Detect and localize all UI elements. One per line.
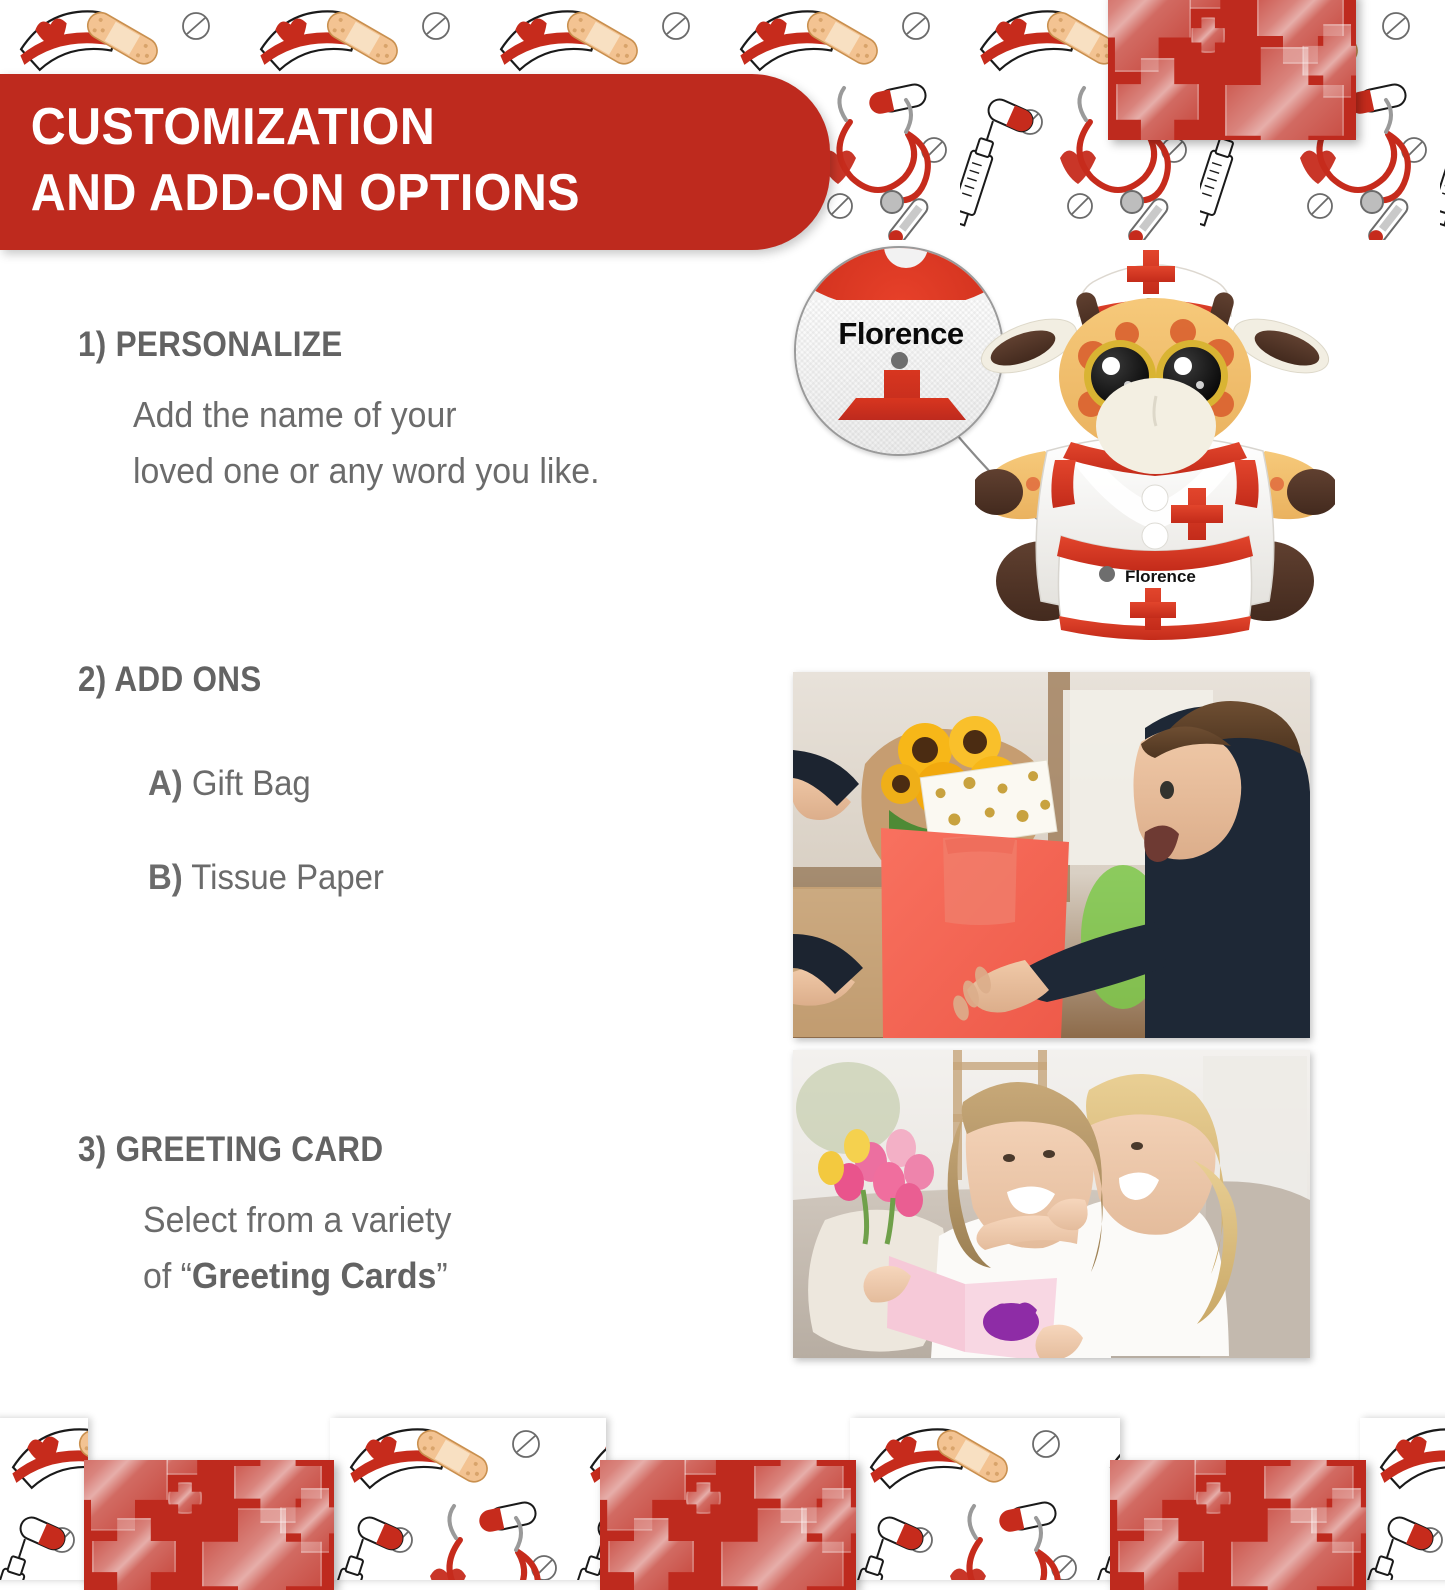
add-on-option-a-letter: A) xyxy=(148,764,183,803)
add-on-option-a-label: Gift Bag xyxy=(192,764,311,803)
gloss-cross-shape xyxy=(1191,17,1225,53)
medical-pattern-tile-4 xyxy=(1360,1418,1445,1580)
magnifier-detail-circle: Florence xyxy=(794,246,1004,456)
medical-pattern-tile-1 xyxy=(0,1418,88,1580)
step-3-quote-open: of “ xyxy=(143,1255,192,1296)
step-3-body-line2: of “Greeting Cards” xyxy=(143,1248,751,1304)
step-personalize: 1) PERSONALIZE Add the name of your love… xyxy=(0,325,790,499)
add-on-option-b[interactable]: B) Tissue Paper xyxy=(148,858,751,898)
step-3-body-line1: Select from a variety xyxy=(143,1192,751,1248)
gloss-cross-shape xyxy=(686,1482,721,1514)
add-on-option-b-label: Tissue Paper xyxy=(191,858,384,897)
step-greeting-card: 3) GREETING CARD Select from a variety o… xyxy=(0,1130,790,1304)
gift-bag-photo xyxy=(793,672,1310,1038)
gloss-cross-shape xyxy=(168,1482,202,1514)
personalized-name-zoom: Florence xyxy=(796,316,1004,352)
nurse-giraffe-plush: Florence xyxy=(975,236,1335,646)
gloss-cross-shape xyxy=(1196,1482,1231,1514)
svg-text:Florence: Florence xyxy=(1125,567,1196,586)
add-on-option-a[interactable]: A) Gift Bag xyxy=(148,764,751,804)
magnifier-cross-horizontal xyxy=(838,398,966,420)
step-3-greeting-cards-bold: Greeting Cards xyxy=(192,1255,436,1296)
header-title-line1: CUSTOMIZATION xyxy=(0,74,772,160)
header-banner: CUSTOMIZATION AND ADD-ON OPTIONS xyxy=(0,74,830,250)
step-3-title: 3) GREETING CARD xyxy=(78,1130,719,1170)
red-cross-gloss-tile-1 xyxy=(84,1460,334,1590)
medical-pattern-tile-3 xyxy=(850,1418,1120,1580)
bottom-decorative-strip xyxy=(0,1418,1445,1580)
greeting-card-photo xyxy=(793,1050,1310,1358)
step-2-title: 2) ADD ONS xyxy=(78,660,719,700)
step-3-quote-close: ” xyxy=(436,1255,447,1296)
medical-pattern-tile-2 xyxy=(330,1418,606,1580)
step-1-body-line2: loved one or any word you like. xyxy=(133,443,751,499)
gift-bag-illustration xyxy=(793,672,1310,1038)
greeting-card-illustration xyxy=(793,1050,1310,1358)
step-1-body-line1: Add the name of your xyxy=(133,387,751,443)
red-cross-gloss-tile-2 xyxy=(600,1460,856,1590)
step-add-ons: 2) ADD ONS A) Gift Bag B) Tissue Paper xyxy=(0,660,790,898)
red-cross-gloss-tile-top xyxy=(1108,0,1356,140)
magnifier-anchor-dot xyxy=(891,352,908,369)
red-cross-gloss-tile-3 xyxy=(1110,1460,1366,1590)
header-title-line2: AND ADD-ON OPTIONS xyxy=(0,160,772,226)
product-image-personalized-plush: Florence xyxy=(780,228,1340,648)
step-1-title: 1) PERSONALIZE xyxy=(78,325,719,365)
plush-illustration: Florence xyxy=(975,236,1335,646)
add-on-option-b-letter: B) xyxy=(148,858,183,897)
